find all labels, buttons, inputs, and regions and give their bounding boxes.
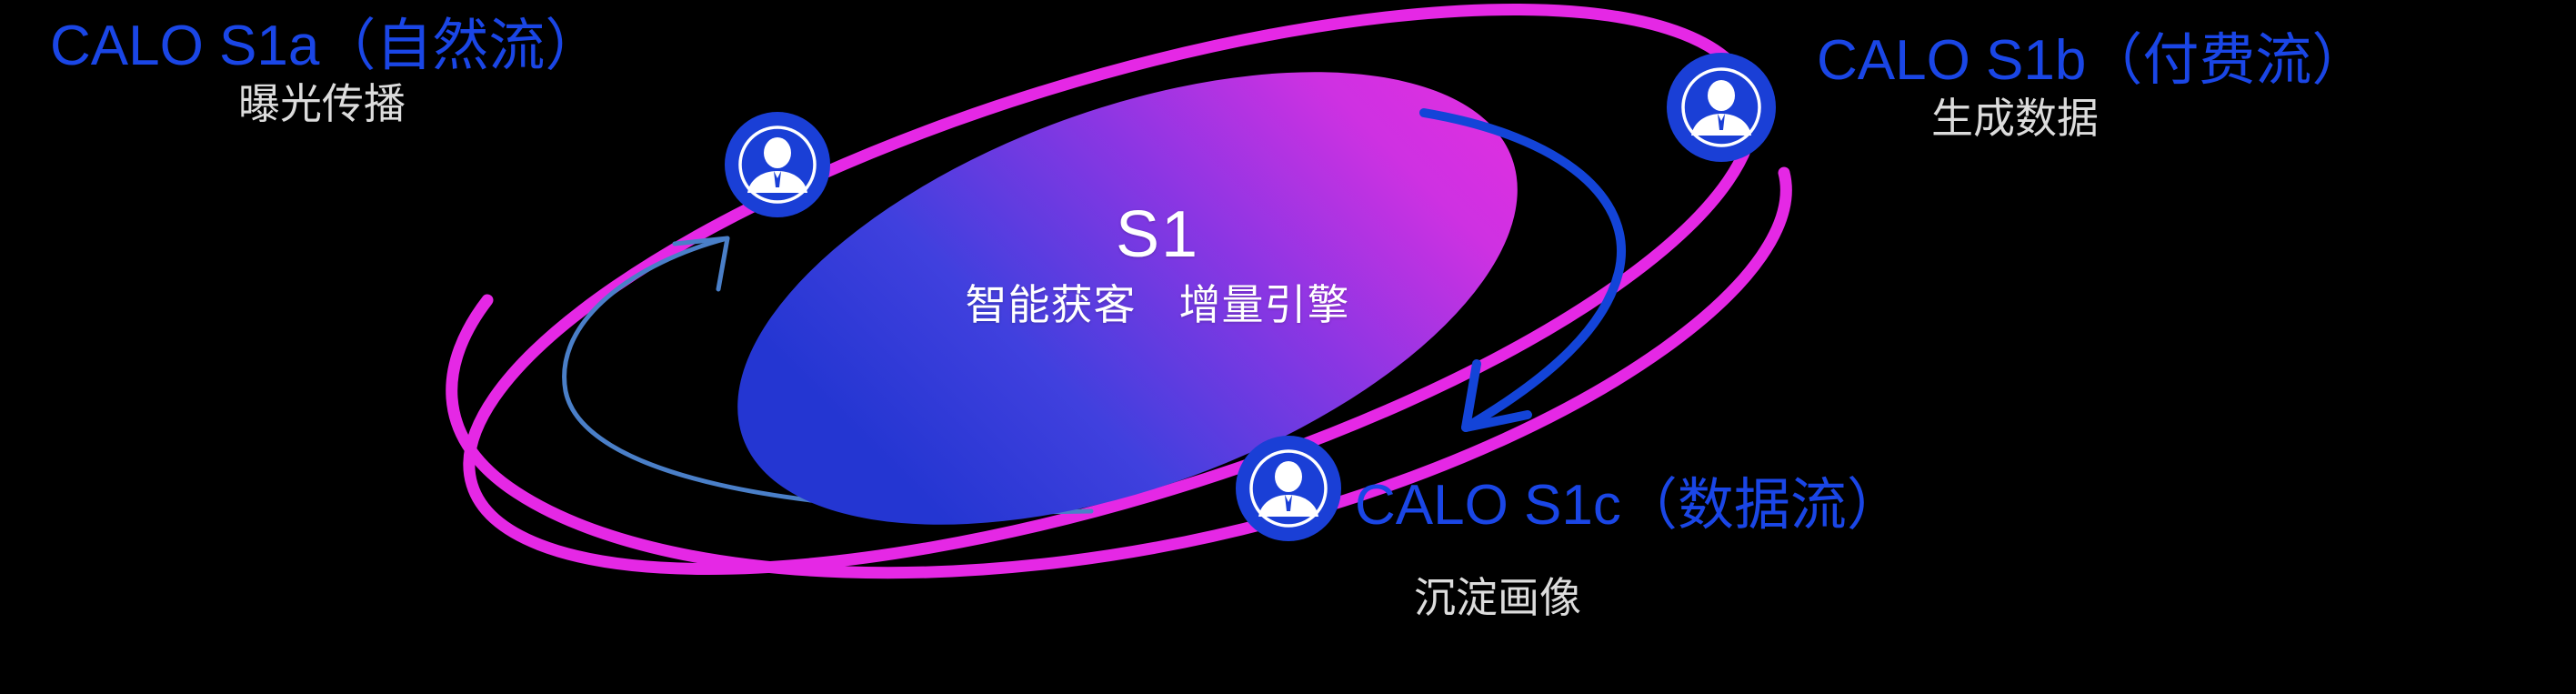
node-badge-s1a[interactable] xyxy=(725,112,830,217)
node-label-s1c-subtitle: 沉淀画像 xyxy=(1414,576,1581,619)
diagram-canvas: S1 智能获客 增量引擎 CALO S1a（自然流） 曝光传播 CALO S1b… xyxy=(0,0,2576,694)
node-badge-s1c[interactable] xyxy=(1236,436,1341,541)
node-label-s1a-subtitle: 曝光传播 xyxy=(238,82,406,126)
core-title: S1 xyxy=(948,202,1367,267)
node-label-s1b-subtitle: 生成数据 xyxy=(1931,96,2099,140)
node-badge-s1b[interactable] xyxy=(1667,53,1776,162)
core-label-group: S1 智能获客 增量引擎 xyxy=(948,202,1367,326)
node-label-s1c-title[interactable]: CALO S1c（数据流） xyxy=(1355,476,1903,535)
node-label-s1a-title[interactable]: CALO S1a（自然流） xyxy=(50,16,601,75)
core-subtitle: 智能获客 增量引擎 xyxy=(948,284,1367,326)
node-label-s1b-title[interactable]: CALO S1b（付费流） xyxy=(1817,31,2368,90)
